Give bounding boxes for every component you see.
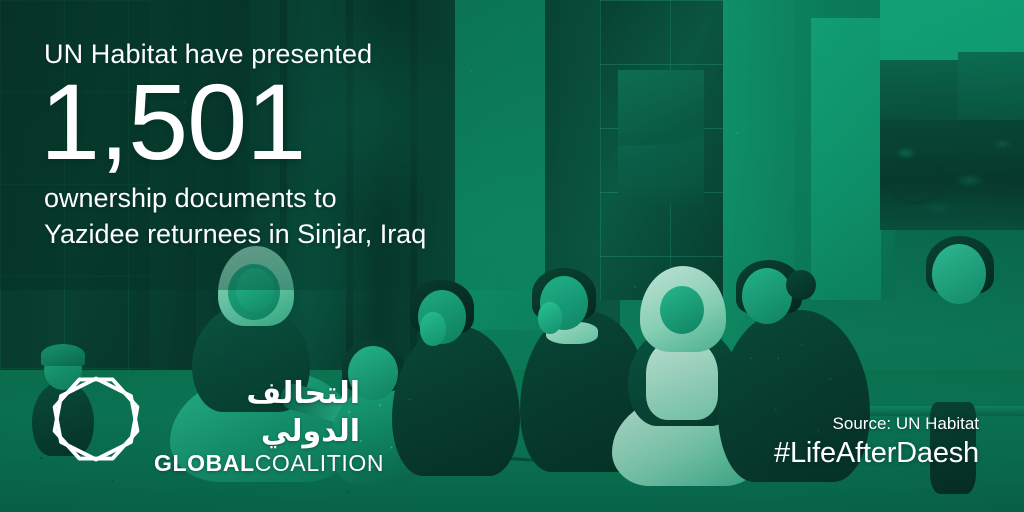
headline-detail-line-2: Yazidee returnees in Sinjar, Iraq: [44, 216, 426, 252]
headline-detail-line-1: ownership documents to: [44, 180, 426, 216]
headline-detail: ownership documents to Yazidee returnees…: [44, 180, 426, 252]
logo-name-coalition: COALITION: [255, 450, 384, 476]
logo-name-global: GLOBAL: [154, 450, 255, 476]
headline-figure: 1,501: [40, 68, 305, 176]
logo-english-name: GLOBALCOALITION: [154, 452, 360, 475]
credits-block: Source: UN Habitat #LifeAfterDaesh: [774, 414, 979, 469]
global-coalition-mark-icon: [50, 373, 142, 465]
text-overlay: UN Habitat have presented 1,501 ownershi…: [0, 0, 1024, 512]
global-coalition-wordmark: التحالف الدولي GLOBALCOALITION: [154, 375, 360, 475]
source-attribution: Source: UN Habitat: [774, 414, 979, 434]
campaign-hashtag: #LifeAfterDaesh: [774, 438, 979, 468]
logo-arabic-name: التحالف الدولي: [154, 375, 360, 450]
global-coalition-logo: التحالف الدولي GLOBALCOALITION: [50, 371, 360, 467]
infographic-card: UN Habitat have presented 1,501 ownershi…: [0, 0, 1024, 512]
